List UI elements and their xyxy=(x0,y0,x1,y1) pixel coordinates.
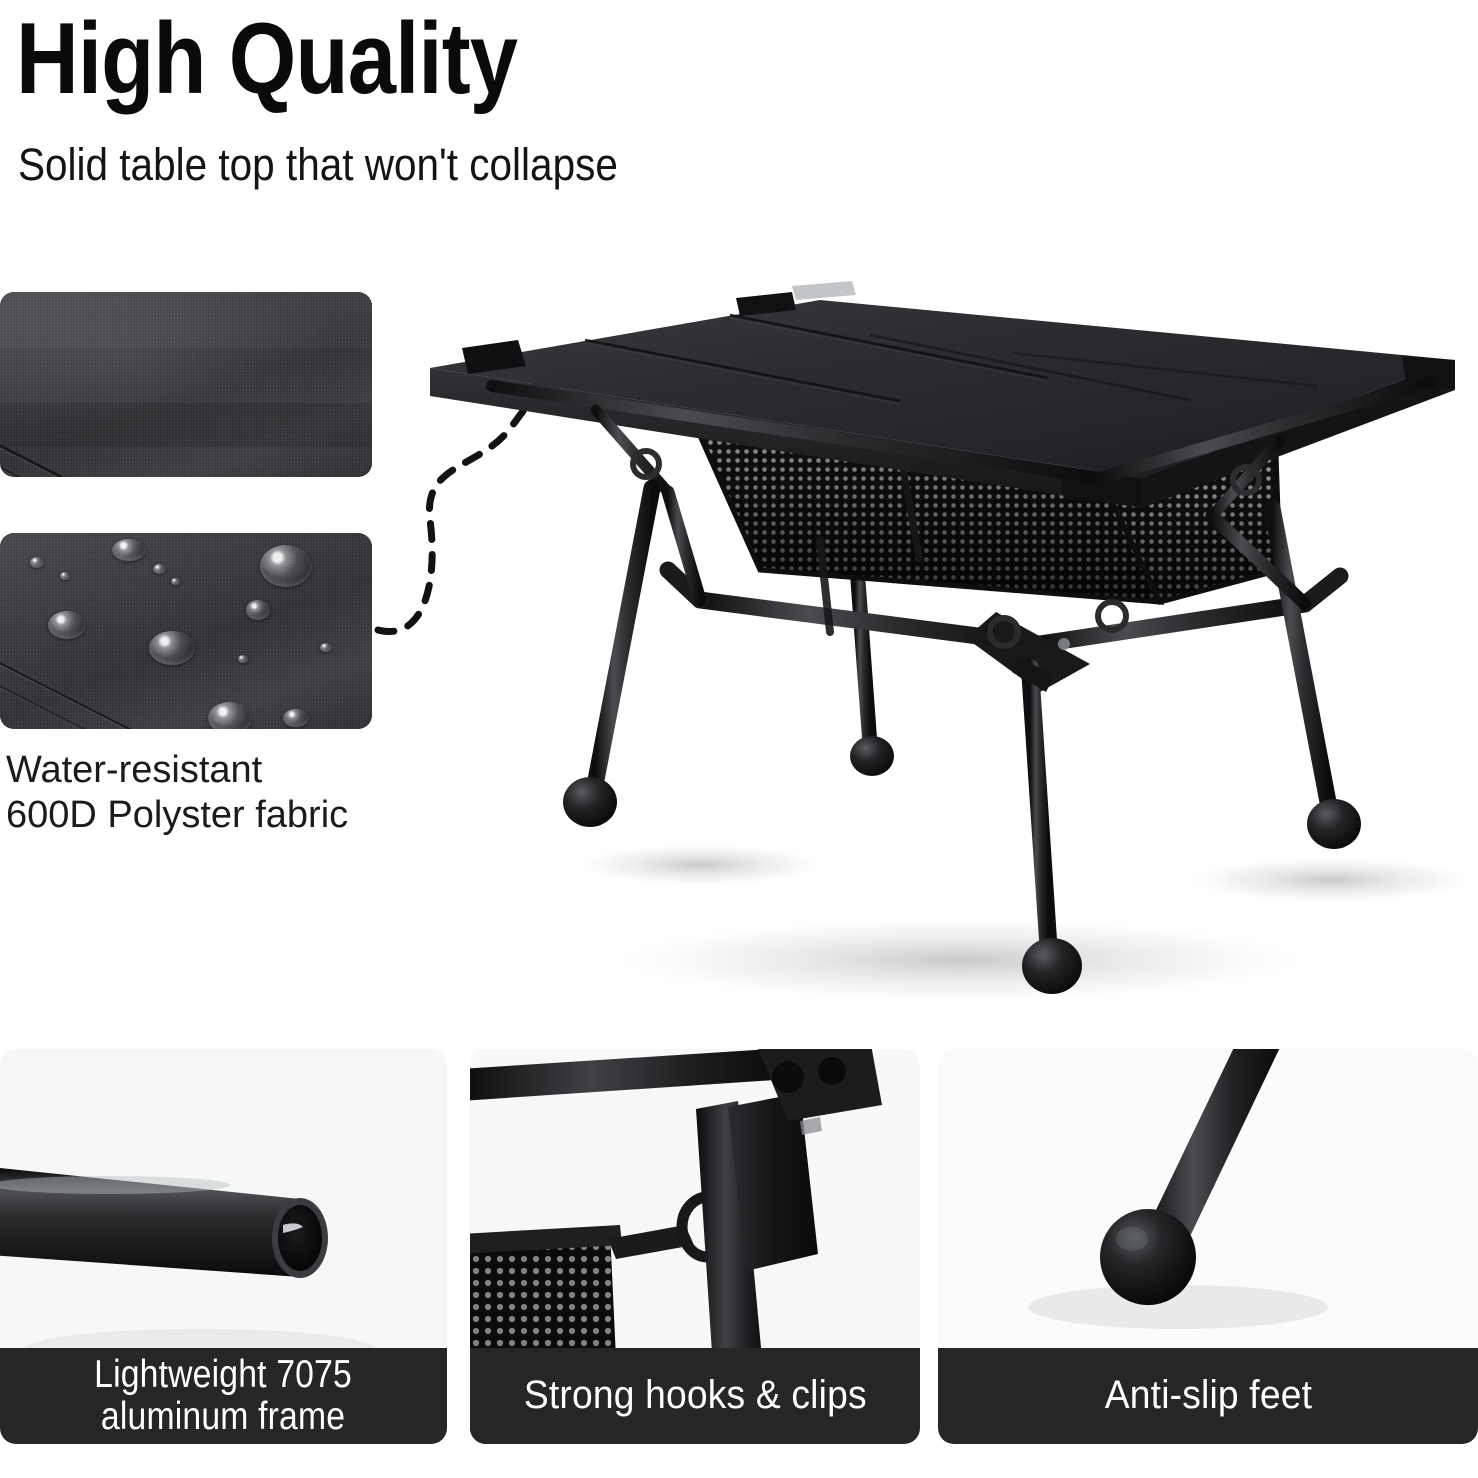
anti-slip-foot xyxy=(1307,799,1361,849)
infographic-canvas: High Quality Solid table top that won't … xyxy=(0,0,1478,1478)
ground-shadow xyxy=(600,916,1320,1004)
panel-caption-strong-hooks-clips: Strong hooks & clips xyxy=(470,1348,920,1444)
table-leg-right xyxy=(1272,508,1361,849)
brand-label-patch xyxy=(792,281,856,300)
caption-line-1: Anti-slip feet xyxy=(1104,1374,1311,1417)
tube-specular xyxy=(0,1176,230,1194)
caption-line-1: Strong hooks & clips xyxy=(524,1374,867,1417)
anti-slip-foot xyxy=(850,736,894,776)
caption-line-2: aluminum frame xyxy=(95,1396,353,1438)
water-droplet xyxy=(60,572,70,580)
thumbnail-water-beading xyxy=(0,533,372,729)
hinge-pin-hole xyxy=(772,1061,804,1093)
page-subtitle: Solid table top that won't collapse xyxy=(18,140,918,190)
water-droplet xyxy=(320,643,332,652)
ground-shadow xyxy=(570,843,830,887)
panel-caption-anti-slip-feet: Anti-slip feet xyxy=(938,1348,1478,1444)
water-droplet xyxy=(112,539,146,561)
brace-joint xyxy=(1305,576,1340,604)
water-droplet xyxy=(238,655,248,663)
ball-highlight xyxy=(1116,1227,1148,1251)
thumb-highlight xyxy=(0,292,372,477)
fabric-caption-line2: 600D Polyster fabric xyxy=(6,793,436,838)
thumbnail-fabric-seam xyxy=(0,292,372,477)
anti-slip-foot xyxy=(1022,938,1082,994)
hero-product-image xyxy=(400,240,1478,1050)
hinge-pin-hole xyxy=(818,1057,846,1085)
caption-line-1: Lightweight 7075 xyxy=(95,1354,353,1396)
water-droplet xyxy=(30,557,44,568)
fabric-caption: Water-resistant 600D Polyster fabric xyxy=(6,748,436,838)
anti-slip-foot xyxy=(563,777,617,827)
rubber-ball-foot xyxy=(1100,1209,1196,1305)
panel-anti-slip-feet: Anti-slip feet xyxy=(938,1049,1478,1444)
panel-caption-lightweight-frame: Lightweight 7075 aluminum frame xyxy=(0,1348,447,1444)
water-droplet xyxy=(260,545,312,587)
fabric-caption-line1: Water-resistant xyxy=(6,748,436,793)
page-title: High Quality xyxy=(16,6,790,113)
panel-lightweight-frame: Lightweight 7075 aluminum frame xyxy=(0,1049,447,1444)
panel-strong-hooks-clips: Strong hooks & clips xyxy=(470,1049,920,1444)
tube-bore xyxy=(278,1205,322,1271)
hub-rivet xyxy=(1058,638,1070,650)
ground-shadow xyxy=(1180,856,1478,904)
water-droplet xyxy=(153,564,166,574)
water-droplet xyxy=(149,631,195,665)
table-leg-left xyxy=(563,488,652,827)
water-droplet xyxy=(246,600,270,620)
